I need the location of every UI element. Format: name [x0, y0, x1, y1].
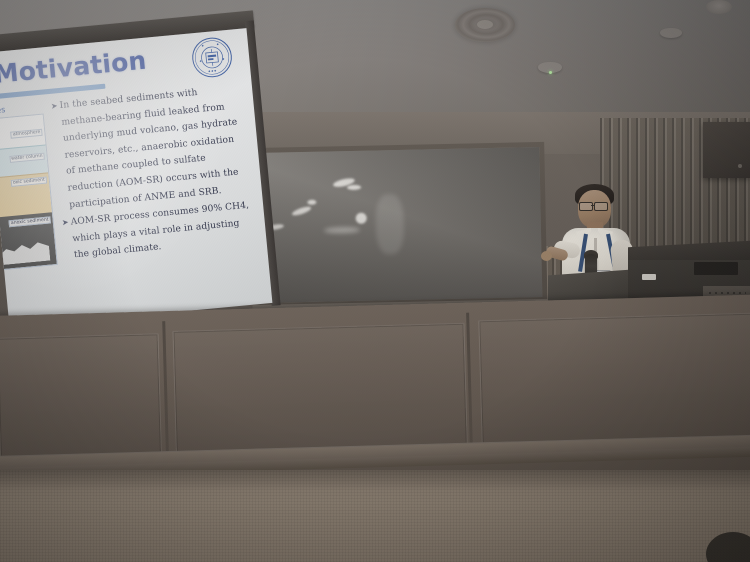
svg-text:⬥: ⬥ [222, 57, 225, 61]
slide-figure: tes atmosphere water column oxic sedimen… [0, 102, 56, 271]
eyeglasses-icon [594, 202, 608, 211]
secondary-screen-surface [254, 147, 542, 303]
stage-panel [478, 313, 750, 445]
bullet-text: In the seabed sediments with methane-bea… [59, 88, 239, 210]
wall-speaker [703, 122, 750, 178]
projection-screen[interactable]: Motivation ⬥⬥ ⬥⬥ ⬥ ⬥ ⬥ tes [0, 10, 281, 334]
stage-panel [172, 323, 467, 453]
eyeglasses-icon [579, 202, 593, 211]
slide-bullet: ➤In the seabed sediments with methane-be… [50, 81, 250, 215]
figure-zone-diagram: atmosphere water column oxic sediment an… [0, 114, 58, 271]
stage-front [0, 295, 750, 492]
secondary-projection-screen[interactable] [254, 147, 542, 318]
speaker-indicator-dot [738, 164, 742, 168]
svg-text:⬥: ⬥ [201, 43, 204, 47]
eyeglasses-bridge [591, 205, 594, 206]
slide-surface: Motivation ⬥⬥ ⬥⬥ ⬥ ⬥ ⬥ tes [0, 28, 272, 328]
lectern-label-plate [642, 274, 656, 280]
ceiling-led-indicator [549, 71, 552, 74]
stage-panel [0, 333, 162, 457]
presenter-gesturing-hand [541, 251, 552, 261]
secondary-screen-shading [254, 147, 542, 303]
ceiling-fixture-icon [660, 28, 682, 38]
ceiling-air-vent-icon [455, 8, 515, 42]
vent-core [477, 20, 493, 29]
lectern-display [694, 262, 738, 275]
sprinkler-icon [706, 0, 732, 14]
floor-shadow [0, 470, 750, 490]
stage-panel-divider [162, 321, 169, 453]
slide-title: Motivation [0, 46, 148, 89]
photo-scene: Motivation ⬥⬥ ⬥⬥ ⬥ ⬥ ⬥ tes [0, 0, 750, 562]
slide-body: ➤In the seabed sediments with methane-be… [50, 81, 255, 266]
svg-text:⬥ ⬥ ⬥: ⬥ ⬥ ⬥ [208, 68, 217, 73]
university-seal-logo-icon: ⬥⬥ ⬥⬥ ⬥ ⬥ ⬥ [189, 35, 235, 81]
